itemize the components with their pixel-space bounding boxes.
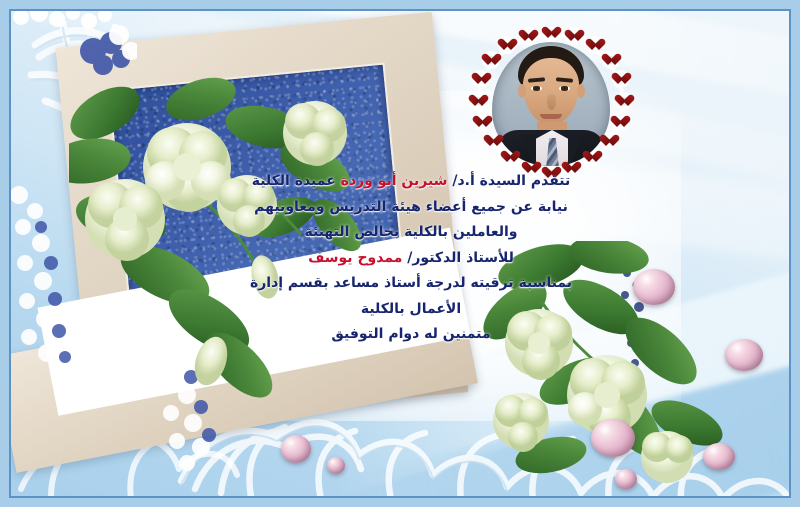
- pearl-bead-5: [615, 469, 637, 489]
- portrait-eye-left: [531, 86, 542, 91]
- greeting-card: تتقدم السيدة أ.د/ شيرين أبو وردة عميدة ا…: [0, 0, 800, 507]
- heart-icon-15: [603, 135, 616, 147]
- pearl-bead-3: [725, 339, 763, 371]
- message-text: نيابة عن جميع أعضاء هيئة التدريس ومعاوني…: [254, 199, 568, 215]
- pearl-bead-4: [703, 443, 735, 470]
- heart-icon-16: [504, 151, 517, 163]
- message-line-1: تتقدم السيدة أ.د/ شيرين أبو وردة عميدة ا…: [211, 169, 611, 195]
- message-line-2: نيابة عن جميع أعضاء هيئة التدريس ومعاوني…: [211, 195, 611, 221]
- message-line-4: للأستاذ الدكتور/ ممدوح يوسف: [211, 246, 611, 272]
- heart-icon-7: [605, 54, 618, 66]
- message-line-5: بمناسبة ترقيته لدرجة أستاذ مساعد بقسم إد…: [211, 271, 611, 297]
- pearl-bead-2: [591, 419, 635, 457]
- heart-icon-6: [485, 54, 498, 66]
- heart-icon-9: [615, 73, 628, 85]
- portrait-photo: [492, 42, 610, 166]
- heart-icon-13: [614, 116, 627, 128]
- pearl-bead-6: [281, 435, 311, 463]
- heart-icon-2: [522, 30, 535, 42]
- message-line-3: والعاملين بالكلية بخالص التهنئة: [211, 220, 611, 246]
- message-text: الأعمال بالكلية: [361, 301, 461, 317]
- portrait-nose: [547, 94, 556, 110]
- heart-icon-11: [618, 95, 631, 107]
- heart-icon-12: [476, 116, 489, 128]
- heart-icon-4: [501, 39, 514, 51]
- heart-icon-8: [475, 73, 488, 85]
- portrait-mouth: [540, 114, 562, 119]
- heart-icon-10: [472, 95, 485, 107]
- message-text: تتقدم السيدة أ.د/: [447, 173, 570, 189]
- heart-icon-5: [589, 39, 602, 51]
- message-highlight-name: شيرين أبو وردة: [341, 173, 448, 189]
- message-text: عميدة الكلية: [252, 173, 341, 189]
- heart-icon-1: [545, 27, 558, 39]
- portrait-ear-right: [577, 84, 585, 98]
- message-text: متمنين له دوام التوفيق: [331, 326, 490, 342]
- message-text: بمناسبة ترقيته لدرجة أستاذ مساعد بقسم إد…: [250, 275, 572, 291]
- message-text: والعاملين بالكلية بخالص التهنئة: [305, 224, 518, 240]
- portrait-ear-left: [518, 84, 526, 98]
- message-highlight-name: ممدوح يوسف: [308, 250, 402, 266]
- heart-icon-14: [487, 135, 500, 147]
- heart-icon-17: [586, 151, 599, 163]
- portrait-frame: [466, 27, 636, 179]
- message-line-7: متمنين له دوام التوفيق: [211, 322, 611, 348]
- portrait-eye-right: [559, 86, 570, 91]
- pearl-bead-7: [327, 457, 345, 474]
- congratulation-message: تتقدم السيدة أ.د/ شيرين أبو وردة عميدة ا…: [211, 169, 611, 348]
- heart-icon-3: [568, 30, 581, 42]
- card-scene: تتقدم السيدة أ.د/ شيرين أبو وردة عميدة ا…: [11, 11, 789, 496]
- pearl-bead-1: [633, 269, 675, 305]
- message-line-6: الأعمال بالكلية: [211, 297, 611, 323]
- message-text: للأستاذ الدكتور/: [402, 250, 514, 266]
